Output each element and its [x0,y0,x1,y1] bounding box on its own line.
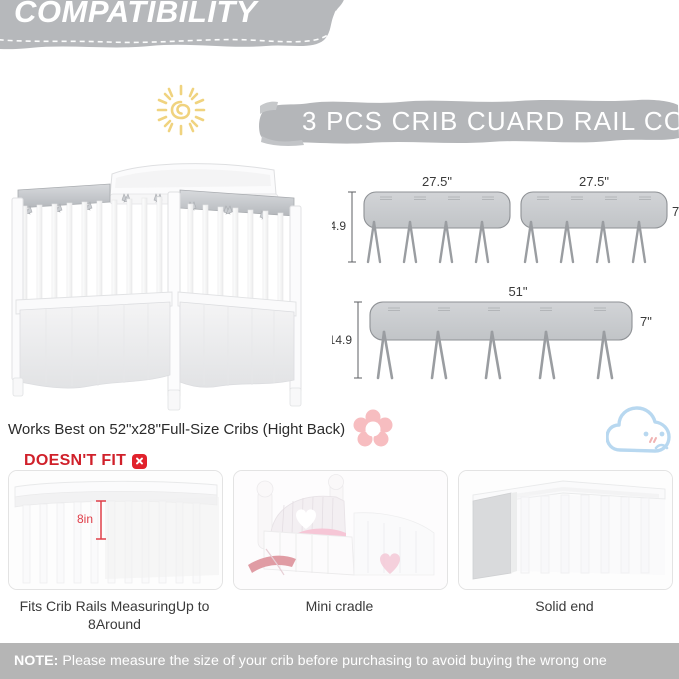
cradle-front-panel [264,531,354,575]
diagram-long-cover: 51" 14.9 [332,284,652,378]
panel-caption-1: Fits Crib Rails MeasuringUp to 8Around [8,598,221,633]
footer-note-text: Please measure the size of your crib bef… [62,653,606,669]
works-best-text: Works Best on 52"x28"Full-Size Cribs (Hi… [8,421,345,438]
cloud-eye-right [660,432,665,437]
rail-cover-left [18,184,110,208]
dim-height-line-1 [348,192,356,262]
panel-crib-rail-measure-image: 8in [8,470,223,590]
cloud-face-icon [606,404,672,462]
infographic-page: COMPATIBILITY 3 PCS CRIB CUARD RAIL COVE… [0,0,679,679]
doesnt-fit-text: DOESN'T FIT [24,452,126,470]
fit-examples-row: 8in Fits Crib Rails MeasuringUp to 8Arou… [8,470,671,635]
dim-side-long: 7" [640,314,652,329]
cloud-mouth [656,445,667,448]
sun-icon [150,80,212,140]
footer-note: NOTE: Please measure the size of your cr… [0,643,679,679]
dimension-diagrams: 27.5" 14.9 [332,172,679,392]
panel-caption-3: Solid end [458,598,671,616]
dim-side-short-2: 7" [672,204,679,219]
dim-length-short-2: 27.5" [579,174,609,189]
dim-height-long: 14.9 [332,333,352,347]
dim-height-short-1: 14.9 [332,219,346,233]
product-title: 3 PCS CRIB CUARD RAIL COVER [302,106,679,137]
cloud-eye-left [644,432,649,437]
diagram-short-cover-1: 27.5" 14.9 [332,174,510,262]
dim-length-short-1: 27.5" [422,174,452,189]
solid-end-panel [473,493,511,579]
panel-solid-end-image [458,470,673,590]
footer-note-label: NOTE: [14,653,58,669]
measure-8in-label: 8in [77,512,93,526]
flower-icon [352,408,394,450]
dim-length-long: 51" [508,284,527,299]
diagram-short-cover-2: 27.5" 7" [521,174,679,262]
compatibility-banner: COMPATIBILITY [0,0,355,58]
crib-slats-left [22,197,162,304]
panel-mini-cradle-image [233,470,448,590]
close-x-icon [132,454,147,469]
panel-mini-cradle: Mini cradle [233,470,446,635]
dim-height-line-2 [354,302,362,378]
product-title-brush: 3 PCS CRIB CUARD RAIL COVER [258,96,679,146]
crib-skirt-left [20,302,170,388]
crib-hero-image [4,150,320,415]
cloud-blush [650,438,656,442]
crib-skirt-right [180,302,294,387]
doesnt-fit-label: DOESN'T FIT [24,452,147,470]
sun-spiral [172,102,189,118]
panel-caption-2: Mini cradle [233,598,446,616]
banner-title: COMPATIBILITY [14,0,257,30]
panel-solid-end: Solid end [458,470,671,635]
panel-crib-rail-measure: 8in Fits Crib Rails MeasuringUp to 8Arou… [8,470,221,635]
